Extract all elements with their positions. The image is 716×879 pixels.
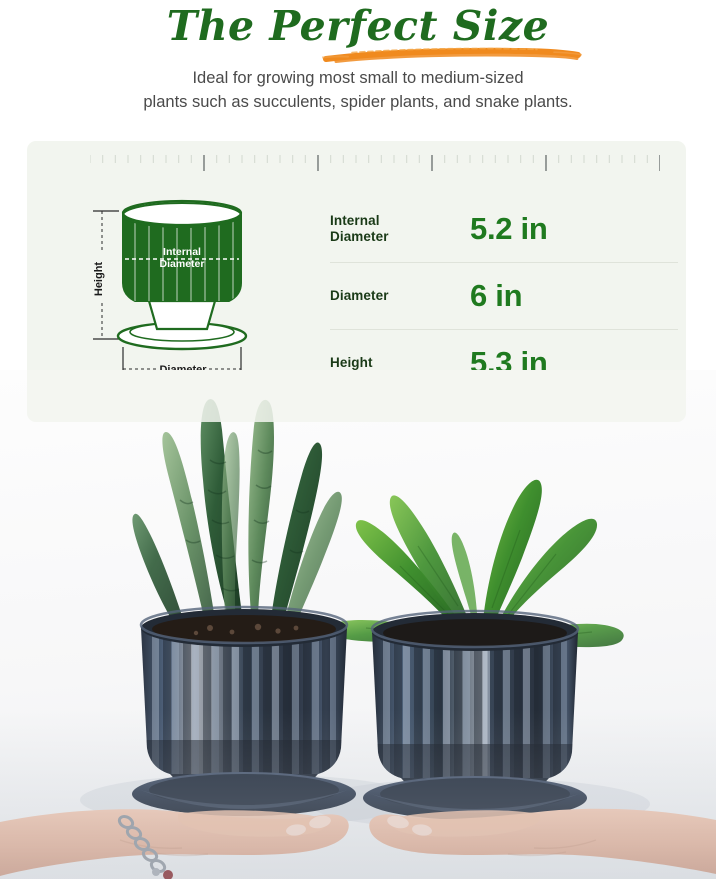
spec-label-line2: Diameter	[330, 229, 470, 245]
spec-value: 5.2 in	[470, 211, 547, 247]
spec-value: 6 in	[470, 278, 522, 314]
spec-label-line1: Internal	[330, 213, 470, 229]
pot-foot	[149, 301, 215, 329]
subtitle-line-1: Ideal for growing most small to medium-s…	[58, 66, 658, 90]
internal-diameter-label-line2: Diameter	[160, 258, 205, 270]
spec-label-line1: Diameter	[330, 288, 470, 304]
product-infographic: The Perfect Size Ideal for growing most …	[0, 0, 716, 879]
spec-label: Diameter	[330, 288, 470, 304]
header: The Perfect Size Ideal for growing most …	[0, 0, 716, 130]
snake-plant	[132, 399, 341, 629]
spec-label-line1: Height	[330, 355, 470, 371]
subtitle-line-2: plants such as succulents, spider plants…	[58, 90, 658, 114]
brush-underline-icon	[322, 44, 582, 66]
spec-label: Height	[330, 355, 470, 371]
photo-floor-shadow	[0, 709, 716, 879]
subtitle: Ideal for growing most small to medium-s…	[58, 66, 658, 114]
spec-table: Internal Diameter 5.2 in Diameter 6 in H…	[330, 196, 678, 396]
height-dimension: Height	[93, 211, 119, 339]
internal-diameter-label-line1: Internal	[163, 246, 201, 258]
height-label: Height	[93, 262, 105, 297]
product-photo	[0, 370, 716, 879]
pot-rim	[123, 201, 241, 225]
table-row: Diameter 6 in	[330, 263, 678, 330]
table-row: Internal Diameter 5.2 in	[330, 196, 678, 263]
panel-photo-overlap-veil	[27, 370, 686, 422]
spec-label: Internal Diameter	[330, 213, 470, 245]
ruler-decoration	[90, 153, 660, 173]
page-title: The Perfect Size	[0, 2, 716, 50]
